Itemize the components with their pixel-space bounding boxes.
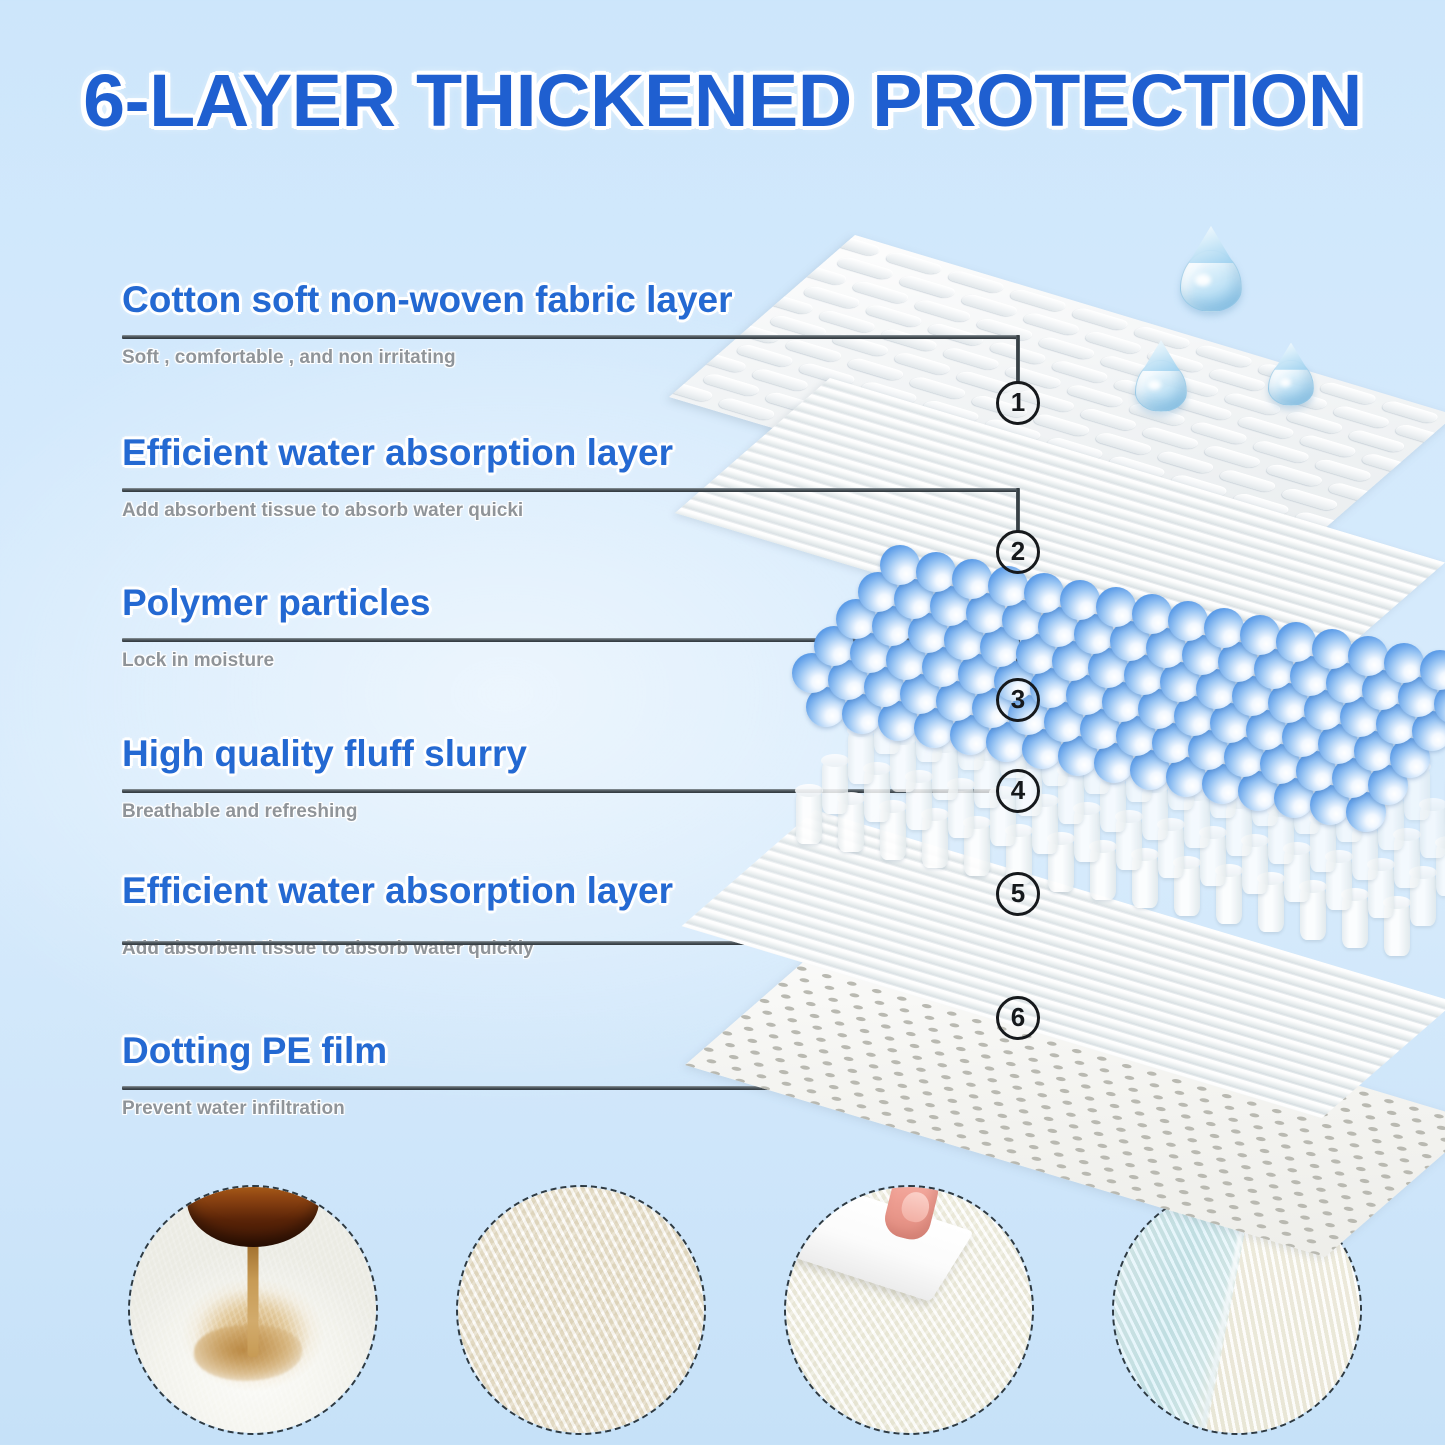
pe-film-dot xyxy=(934,1138,947,1144)
pe-film-dot xyxy=(1102,1167,1115,1173)
pe-film-dot xyxy=(915,1067,928,1073)
pe-film-dot xyxy=(1420,1153,1433,1159)
pe-film-dot xyxy=(1165,1142,1178,1148)
pe-film-dot xyxy=(1077,1159,1090,1165)
pe-film-dot xyxy=(820,973,833,979)
pe-film-dot xyxy=(1005,1148,1018,1154)
pe-film-dot xyxy=(1274,1207,1287,1213)
layer-3-polymer-particles-art xyxy=(820,555,1445,785)
pe-film-dot xyxy=(1227,1204,1240,1210)
pe-film-dot xyxy=(927,1027,940,1033)
pe-film-dot xyxy=(1229,1129,1242,1135)
layer-6-text-block: Dotting PE film Prevent water infiltrati… xyxy=(122,1032,387,1118)
layer-1-leader-vertical xyxy=(1016,335,1020,383)
pe-film-dot xyxy=(815,1037,828,1043)
pe-film-dot xyxy=(1249,1200,1262,1206)
pe-film-dot xyxy=(879,1024,892,1030)
drop-gloss xyxy=(1280,378,1291,387)
pe-film-dot xyxy=(967,1093,980,1099)
pe-film-dot xyxy=(796,1053,809,1059)
pe-film-dot xyxy=(1179,1114,1192,1120)
pe-film-dot xyxy=(1296,1203,1309,1209)
pe-film-dot xyxy=(780,1081,793,1087)
pe-film-dot xyxy=(979,1054,992,1060)
layer-3-subtitle: Lock in moisture xyxy=(122,651,430,670)
pe-film-dot xyxy=(883,1036,896,1042)
pe-film-dot xyxy=(721,1030,734,1036)
polymer-particle xyxy=(1312,629,1352,669)
pe-film-dot xyxy=(961,1070,974,1076)
pe-film-dot xyxy=(852,1004,865,1010)
pe-film-dot xyxy=(992,1101,1005,1107)
pe-film-dot xyxy=(786,1017,799,1023)
pe-film-dot xyxy=(834,1108,847,1114)
pe-film-dot xyxy=(809,1100,822,1106)
pe-film-dot xyxy=(1061,1100,1074,1106)
pe-film-dot xyxy=(1217,1168,1230,1174)
pe-film-dot xyxy=(927,1114,940,1120)
pe-film-dot xyxy=(1096,1143,1109,1149)
pe-film-dot xyxy=(908,1043,921,1049)
pe-film-dot xyxy=(1342,1206,1355,1212)
pe-film-dot xyxy=(1364,1114,1377,1120)
pe-film-dot xyxy=(1129,1099,1142,1105)
photo-fluff-pulp-texture xyxy=(456,1185,706,1435)
drop-gloss xyxy=(1195,274,1211,286)
pe-film-dot xyxy=(880,1111,893,1117)
pe-film-dot xyxy=(1180,1201,1193,1207)
pe-film-dot xyxy=(1271,1195,1284,1201)
pe-film-dot xyxy=(848,992,861,998)
pe-film-dot xyxy=(1192,1161,1205,1167)
pe-film-dot xyxy=(921,1090,934,1096)
pe-film-dot xyxy=(779,994,792,1000)
pe-film-dot xyxy=(977,1129,990,1135)
pe-film-dot xyxy=(755,1073,768,1079)
layer-1-leader-horizontal xyxy=(122,335,1020,339)
pe-film-dot xyxy=(823,985,836,991)
layer-marker-2: 2 xyxy=(996,530,1040,574)
pe-film-dot xyxy=(1373,1150,1386,1156)
pe-film-dot xyxy=(1317,1198,1330,1204)
pe-film-dot xyxy=(1136,1122,1149,1128)
pe-film-dot xyxy=(999,1125,1012,1131)
pe-film-dot xyxy=(1304,1151,1317,1157)
pe-film-dot xyxy=(1340,1194,1353,1200)
pe-film-dot xyxy=(959,1145,972,1151)
polymer-particle xyxy=(1060,580,1100,620)
pe-film-dot xyxy=(1158,1118,1171,1124)
polymer-particle xyxy=(1240,615,1280,655)
pe-film-dot xyxy=(1067,1123,1080,1129)
layer-5-text-block: Efficient water absorption layer Add abs… xyxy=(122,872,673,958)
pe-film-dot xyxy=(1098,1067,1111,1073)
pe-film-dot xyxy=(870,988,883,994)
pe-film-dot xyxy=(1333,1171,1346,1177)
pe-film-dot xyxy=(898,1007,911,1013)
pe-film-dot xyxy=(986,1077,999,1083)
pe-film-dot xyxy=(973,1030,986,1036)
pe-film-dot xyxy=(827,997,840,1003)
pe-film-dot xyxy=(1308,1163,1321,1169)
pe-film-dot xyxy=(804,1001,817,1007)
pe-film-dot xyxy=(1342,1119,1355,1125)
pe-film-dot xyxy=(1279,1144,1292,1150)
exploded-layer-illustration xyxy=(820,210,1445,1170)
layer-1-heading: Cotton soft non-woven fabric layer xyxy=(122,281,733,318)
pe-film-dot xyxy=(1321,1210,1334,1216)
pe-film-dot xyxy=(1079,1084,1092,1090)
pe-film-dot xyxy=(1121,1150,1134,1156)
infographic-canvas: 6-LAYER THICKENED PROTECTION Cotton soft… xyxy=(0,0,1445,1445)
layer-2-text-block: Efficient water absorption layer Add abs… xyxy=(122,434,673,520)
pe-film-dot xyxy=(1071,1135,1084,1141)
pe-film-dot xyxy=(1221,1180,1234,1186)
pe-film-dot xyxy=(1021,1120,1034,1126)
layer-marker-6: 6 xyxy=(996,996,1040,1040)
pe-film-dot xyxy=(1008,1073,1021,1079)
pe-film-dot xyxy=(1084,1183,1097,1189)
pe-film-dot xyxy=(1202,1197,1215,1203)
pe-film-dot xyxy=(946,1098,959,1104)
pe-film-dot xyxy=(1290,1179,1303,1185)
pe-film-dot xyxy=(1345,1131,1358,1137)
pe-film-dot xyxy=(902,1019,915,1025)
pe-film-dot xyxy=(1023,1045,1036,1051)
pe-film-dot xyxy=(1092,1131,1105,1137)
pe-film-dot xyxy=(1117,1138,1130,1144)
layer-2-subtitle: Add absorbent tissue to absorb water qui… xyxy=(122,501,673,520)
pe-film-dot xyxy=(802,989,815,995)
pe-film-dot xyxy=(1270,1108,1283,1114)
pe-film-dot xyxy=(1033,1081,1046,1087)
pe-film-dot xyxy=(1230,1216,1243,1222)
layer-marker-4-number: 4 xyxy=(1011,777,1025,803)
pe-film-dot xyxy=(1202,1109,1215,1115)
pe-film-dot xyxy=(917,1078,930,1084)
pe-film-dot xyxy=(1352,1154,1365,1160)
pe-film-dot xyxy=(896,1083,909,1089)
pe-film-dot xyxy=(1174,1177,1187,1183)
pe-film-dot xyxy=(702,1047,715,1053)
pe-film-dot xyxy=(1073,1060,1086,1066)
layer-2-leader-horizontal xyxy=(122,488,1020,492)
fluff-fiber xyxy=(796,790,822,844)
pe-film-dot xyxy=(1389,1122,1402,1128)
layer-4-text-block: High quality fluff slurry Breathable and… xyxy=(122,735,527,821)
pe-film-dot xyxy=(1386,1197,1399,1203)
pe-film-dot xyxy=(727,1054,740,1060)
pe-film-dot xyxy=(1198,1097,1211,1103)
pe-film-dot xyxy=(884,1123,897,1129)
pe-film-dot xyxy=(1324,1222,1337,1228)
pe-film-dot xyxy=(765,1022,778,1028)
pe-film-dot xyxy=(1379,1174,1392,1180)
photo-2-inner xyxy=(458,1187,704,1433)
layer-5-heading: Efficient water absorption layer xyxy=(122,872,673,909)
pe-film-dot xyxy=(924,1102,937,1108)
pe-film-dot xyxy=(911,1055,924,1061)
pe-film-dot xyxy=(1083,1096,1096,1102)
pe-film-dot xyxy=(902,1107,915,1113)
pe-film-dot xyxy=(1186,1137,1199,1143)
pe-film-dot xyxy=(877,1099,890,1105)
pe-film-dot xyxy=(980,1141,993,1147)
pe-film-dot xyxy=(833,1021,846,1027)
pe-film-dot xyxy=(955,1133,968,1139)
layer-6-subtitle: Prevent water infiltration xyxy=(122,1099,387,1118)
pe-film-dot xyxy=(984,1153,997,1159)
polymer-particle xyxy=(1348,636,1388,676)
pe-film-dot xyxy=(1086,1107,1099,1113)
polymer-particle xyxy=(1168,601,1208,641)
layer-marker-5-number: 5 xyxy=(1011,880,1025,906)
pe-film-dot xyxy=(1277,1219,1290,1225)
pe-film-dot xyxy=(855,1103,868,1109)
pe-film-dot xyxy=(1190,1149,1203,1155)
pe-film-dot xyxy=(1204,1121,1217,1127)
pe-film-dot xyxy=(1042,1116,1055,1122)
pe-film-dot xyxy=(1273,1120,1286,1126)
pe-film-dot xyxy=(1423,1165,1436,1171)
polymer-particle xyxy=(952,559,992,599)
pe-film-dot xyxy=(945,1011,958,1017)
pe-film-dot xyxy=(1327,1147,1340,1153)
pe-film-dot xyxy=(1146,1158,1159,1164)
pe-film-dot xyxy=(1258,1148,1271,1154)
pe-film-dot xyxy=(1265,1172,1278,1178)
pe-film-dot xyxy=(824,1072,837,1078)
pe-film-dot xyxy=(1011,1085,1024,1091)
pe-film-dot xyxy=(1104,1091,1117,1097)
pe-film-dot xyxy=(817,1048,830,1054)
pe-film-dot xyxy=(871,1075,884,1081)
pe-film-dot xyxy=(865,1052,878,1058)
pe-film-dot xyxy=(923,1015,936,1021)
pe-film-dot xyxy=(1402,1169,1415,1175)
pe-film-dot xyxy=(1208,1133,1221,1139)
pe-film-dot xyxy=(905,1118,918,1124)
pe-film-dot xyxy=(1059,1175,1072,1181)
photo-finger-press-test xyxy=(784,1185,1034,1435)
pe-film-dot xyxy=(761,1010,774,1016)
pe-film-dot xyxy=(1017,1108,1030,1114)
pe-film-dot xyxy=(1323,1135,1336,1141)
pe-film-dot xyxy=(1080,1171,1093,1177)
pe-film-dot xyxy=(1298,1127,1311,1133)
pe-film-dot xyxy=(1367,1126,1380,1132)
pe-film-dot xyxy=(1242,1176,1255,1182)
pe-film-dot xyxy=(1311,1175,1324,1181)
polymer-particle xyxy=(1204,608,1244,648)
pe-film-dot xyxy=(1223,1105,1236,1111)
pe-film-dot xyxy=(1099,1155,1112,1161)
pe-film-dot xyxy=(705,1058,718,1064)
pe-film-dot xyxy=(730,1066,743,1072)
polymer-particle xyxy=(916,552,956,592)
pe-film-dot xyxy=(1127,1087,1140,1093)
pe-film-dot xyxy=(1065,1112,1078,1118)
layer-3-heading: Polymer particles xyxy=(122,584,430,621)
pe-film-dot xyxy=(1077,1072,1090,1078)
pe-film-dot xyxy=(1395,1146,1408,1152)
pe-film-dot xyxy=(1252,1212,1265,1218)
pe-film-dot xyxy=(1414,1129,1427,1135)
pe-film-dot xyxy=(734,1078,747,1084)
pe-film-dot xyxy=(1211,1145,1224,1151)
pe-film-dot xyxy=(1404,1181,1417,1187)
pe-film-dot xyxy=(1120,1063,1133,1069)
pe-film-dot xyxy=(1030,1156,1043,1162)
pe-film-dot xyxy=(1283,1156,1296,1162)
pe-film-dot xyxy=(1383,1098,1396,1104)
layer-6-heading: Dotting PE film xyxy=(122,1032,387,1069)
pe-film-dot xyxy=(1370,1138,1383,1144)
pe-film-dot xyxy=(1052,1064,1065,1070)
pe-film-dot xyxy=(771,1045,784,1051)
topsheet-emboss-pill xyxy=(821,235,884,257)
polymer-particle xyxy=(880,545,920,585)
pe-film-dot xyxy=(840,1044,853,1050)
pe-film-dot xyxy=(1049,1140,1062,1146)
pe-film-dot xyxy=(1148,1082,1161,1088)
pe-film-dot xyxy=(1346,1218,1359,1224)
pe-film-dot xyxy=(1040,1104,1053,1110)
layer-2-heading: Efficient water absorption layer xyxy=(122,434,673,471)
pe-film-dot xyxy=(1215,1157,1228,1163)
pe-film-dot xyxy=(1277,1132,1290,1138)
pe-film-dot xyxy=(1302,1227,1315,1233)
pe-film-dot xyxy=(1227,1117,1240,1123)
pe-film-dot xyxy=(1205,1208,1218,1214)
pe-film-dot xyxy=(1161,1130,1174,1136)
pe-film-dot xyxy=(1339,1107,1352,1113)
pe-film-dot xyxy=(1029,1069,1042,1075)
polymer-particle xyxy=(1024,573,1064,613)
pe-film-dot xyxy=(1358,1178,1371,1184)
pe-film-dot xyxy=(1015,1097,1028,1103)
pe-film-dot xyxy=(1127,1174,1140,1180)
pe-film-dot xyxy=(1280,1231,1293,1237)
pe-film-dot xyxy=(1245,1101,1258,1107)
layer-marker-4: 4 xyxy=(996,769,1040,813)
pe-film-dot xyxy=(971,1105,984,1111)
pe-film-dot xyxy=(859,1115,872,1121)
pe-film-dot xyxy=(1358,1091,1371,1097)
pe-film-dot xyxy=(952,1122,965,1128)
pe-film-dot xyxy=(1224,1192,1237,1198)
pe-film-dot xyxy=(1134,1198,1147,1204)
layer-1-subtitle: Soft , comfortable , and non irritating xyxy=(122,348,733,367)
pe-film-dot xyxy=(1398,1157,1411,1163)
pe-film-dot xyxy=(990,1089,1003,1095)
pe-film-dot xyxy=(1074,1147,1087,1153)
pe-film-dot xyxy=(936,1062,949,1068)
pe-film-dot xyxy=(890,1059,903,1065)
pe-film-dot xyxy=(742,1026,755,1032)
pe-film-dot xyxy=(1327,1234,1340,1240)
pe-film-dot xyxy=(1367,1213,1380,1219)
drop-gloss xyxy=(1148,380,1161,390)
water-drop-small xyxy=(1268,360,1314,406)
pe-film-dot xyxy=(1123,1075,1136,1081)
pe-film-dot xyxy=(829,1009,842,1015)
pe-film-dot xyxy=(1046,1128,1059,1134)
pe-film-dot xyxy=(930,1126,943,1132)
layer-3-text-block: Polymer particles Lock in moisture xyxy=(122,584,430,670)
layer-marker-1: 1 xyxy=(996,381,1040,425)
pe-film-dot xyxy=(827,1084,840,1090)
pe-film-dot xyxy=(1145,1071,1158,1077)
pe-film-dot xyxy=(1027,1057,1040,1063)
pe-film-dot xyxy=(1236,1152,1249,1158)
pe-film-dot xyxy=(1439,1137,1445,1143)
pe-film-dot xyxy=(774,1057,787,1063)
pe-film-dot xyxy=(940,1074,953,1080)
pe-film-dot xyxy=(954,1046,967,1052)
pe-film-dot xyxy=(1173,1090,1186,1096)
pe-film-dot xyxy=(920,1003,933,1009)
pe-film-dot xyxy=(790,1029,803,1035)
pe-film-dot xyxy=(1183,1126,1196,1132)
pe-film-dot xyxy=(1152,1182,1165,1188)
pe-film-dot xyxy=(795,966,808,972)
pe-film-dot xyxy=(852,1092,865,1098)
pe-film-dot xyxy=(1392,1134,1405,1140)
pe-film-dot xyxy=(948,1022,961,1028)
pe-film-dot xyxy=(909,1130,922,1136)
pe-film-dot xyxy=(811,1025,824,1031)
pe-film-dot xyxy=(1299,1215,1312,1221)
pe-film-dot xyxy=(1220,1093,1233,1099)
layer-marker-5: 5 xyxy=(996,872,1040,916)
pe-film-dot xyxy=(1195,1086,1208,1092)
pe-film-dot xyxy=(1360,1102,1373,1108)
water-drop-large xyxy=(1180,250,1242,312)
pe-film-dot xyxy=(1155,1193,1168,1199)
pe-film-dot xyxy=(1027,1144,1040,1150)
pe-film-dot xyxy=(752,1062,765,1068)
pe-film-dot xyxy=(1124,1162,1137,1168)
pe-film-dot xyxy=(892,1071,905,1077)
pe-film-dot xyxy=(942,1086,955,1092)
pe-film-dot xyxy=(805,1088,818,1094)
pe-film-dot xyxy=(1052,1152,1065,1158)
pe-film-dot xyxy=(1442,1149,1445,1155)
pe-film-dot xyxy=(1111,1115,1124,1121)
pe-film-dot xyxy=(1149,1170,1162,1176)
pe-film-dot xyxy=(1109,1190,1122,1196)
pe-film-dot xyxy=(808,1013,821,1019)
pe-film-dot xyxy=(1196,1173,1209,1179)
pe-film-dot xyxy=(1408,1106,1421,1112)
pe-film-dot xyxy=(1002,1049,1015,1055)
pe-film-dot xyxy=(1240,1164,1253,1170)
pe-film-dot xyxy=(783,1006,796,1012)
pe-film-dot xyxy=(1248,1112,1261,1118)
pe-film-dot xyxy=(1255,1223,1268,1229)
pe-film-dot xyxy=(970,1018,983,1024)
white-pad-corner xyxy=(786,1187,974,1301)
pe-film-dot xyxy=(1267,1183,1280,1189)
pe-film-dot xyxy=(1154,1106,1167,1112)
pe-film-dot xyxy=(1095,1056,1108,1062)
pe-film-dot xyxy=(767,1033,780,1039)
page-title: 6-LAYER THICKENED PROTECTION xyxy=(0,58,1445,143)
pe-film-dot xyxy=(1302,1139,1315,1145)
pe-film-dot xyxy=(1365,1202,1378,1208)
pe-film-dot xyxy=(1177,1189,1190,1195)
